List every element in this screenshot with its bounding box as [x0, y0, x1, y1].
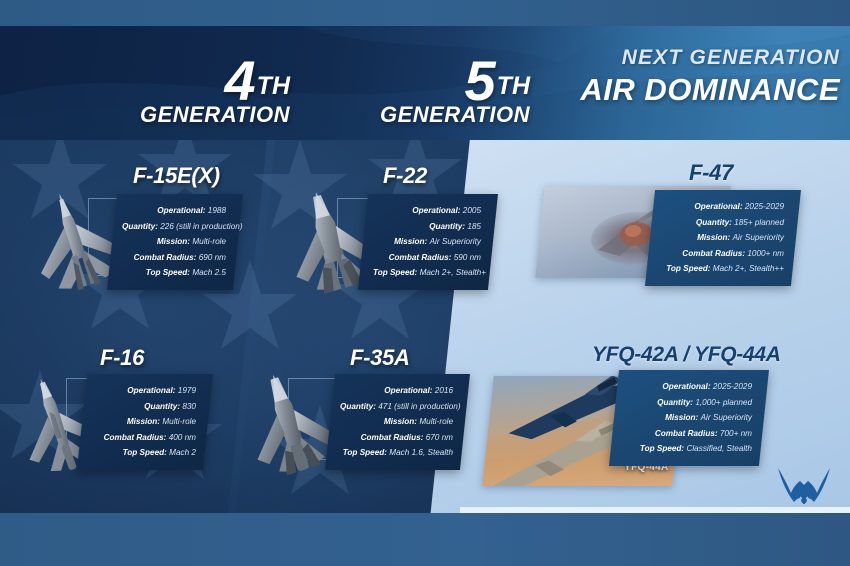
spec-label-mission: Mission: [127, 417, 160, 426]
spec-row-quantity: Quantity: 471 (still in production) [340, 399, 453, 415]
header-4th-generation: 4TH GENERATION [60, 56, 290, 128]
spec-label-quantity: Quantity: [696, 218, 732, 227]
spec-row-combat-radius: Combat Radius: 590 nm [373, 250, 481, 266]
gen5-ordinal: TH [497, 72, 530, 100]
spec-value-mission: Air Superiority [701, 413, 752, 422]
spec-row-combat-radius: Combat Radius: 670 nm [340, 430, 453, 446]
spec-value-top-speed: Classified, Stealth [686, 444, 752, 453]
spec-value-operational: 2025-2029 [745, 202, 784, 211]
spec-row-quantity: Quantity: 185+ planned [660, 215, 784, 231]
spec-value-combat-radius: 700+ nm [720, 429, 752, 438]
spec-label-combat-radius: Combat Radius: [134, 253, 197, 262]
spec-label-operational: Operational: [412, 206, 460, 215]
spec-value-combat-radius: 670 nm [426, 433, 453, 442]
spec-value-top-speed: Mach 2 [169, 448, 196, 457]
spec-label-top-speed: Top Speed: [666, 264, 710, 273]
spec-label-combat-radius: Combat Radius: [389, 253, 452, 262]
spec-label-quantity: Quantity: [122, 222, 158, 231]
spec-card-yfq: Operational: 2025-2029 Quantity: 1,000+ … [609, 370, 769, 466]
spec-row-operational: Operational: 1988 [122, 203, 226, 219]
spec-row-quantity: Quantity: 185 [373, 219, 481, 235]
spec-value-mission: Air Superiority [733, 233, 784, 242]
spec-value-top-speed: Mach 2+, Stealth++ [713, 264, 784, 273]
spec-value-operational: 2016 [435, 386, 453, 395]
aircraft-photo-f35a [240, 366, 340, 488]
spec-card-f15ex: Operational: 1988 Quantity: 226 (still i… [107, 194, 243, 290]
gen4-label: GENERATION [60, 102, 290, 128]
aircraft-name-f22: F-22 [383, 163, 427, 189]
spec-row-operational: Operational: 1979 [92, 383, 196, 399]
spec-label-quantity: Quantity: [144, 402, 180, 411]
spec-label-operational: Operational: [127, 386, 175, 395]
bottom-accent-strip [0, 513, 850, 566]
spec-row-top-speed: Top Speed: Mach 2.5 [122, 265, 226, 281]
spec-row-combat-radius: Combat Radius: 400 nm [92, 430, 196, 446]
spec-row-mission: Mission: Multi-role [122, 234, 226, 250]
spec-row-operational: Operational: 2025-2029 [660, 199, 784, 215]
aircraft-name-yfq: YFQ-42A / YFQ-44A [592, 343, 781, 367]
spec-label-top-speed: Top Speed: [640, 444, 684, 453]
spec-label-operational: Operational: [157, 206, 205, 215]
spec-label-combat-radius: Combat Radius: [104, 433, 167, 442]
spec-row-combat-radius: Combat Radius: 700+ nm [624, 426, 752, 442]
spec-value-operational: 2025-2029 [713, 382, 752, 391]
header-next-generation: NEXT GENERATION AIR DOMINANCE [560, 46, 840, 108]
spec-row-quantity: Quantity: 1,000+ planned [624, 395, 752, 411]
spec-label-top-speed: Top Speed: [123, 448, 167, 457]
gen5-label: GENERATION [300, 102, 530, 128]
spec-label-top-speed: Top Speed: [373, 268, 417, 277]
spec-row-mission: Mission: Air Superiority [373, 234, 481, 250]
spec-value-top-speed: Mach 1.6, Stealth [389, 448, 453, 457]
ngad-line1: NEXT GENERATION [560, 46, 840, 70]
spec-row-operational: Operational: 2025-2029 [624, 379, 752, 395]
spec-label-operational: Operational: [662, 382, 710, 391]
spec-label-mission: Mission: [665, 413, 698, 422]
spec-row-top-speed: Top Speed: Mach 1.6, Stealth [340, 445, 453, 461]
spec-value-operational: 1979 [178, 386, 196, 395]
spec-label-mission: Mission: [157, 237, 190, 246]
spec-row-mission: Mission: Air Superiority [624, 410, 752, 426]
usaf-wings-icon [774, 466, 834, 508]
spec-row-top-speed: Top Speed: Mach 2+, Stealth++ [660, 261, 784, 277]
ngad-panel-content: F-47 Operational: 2025-2029 [474, 138, 850, 518]
spec-label-mission: Mission: [384, 417, 417, 426]
spec-card-f16: Operational: 1979 Quantity: 830 Mission:… [77, 374, 213, 470]
spec-value-top-speed: Mach 2.5 [192, 268, 226, 277]
spec-row-mission: Mission: Multi-role [340, 414, 453, 430]
header-band: 4TH GENERATION 5TH GENERATION NEXT GENER… [0, 26, 850, 140]
spec-value-operational: 1988 [208, 206, 226, 215]
spec-label-top-speed: Top Speed: [146, 268, 190, 277]
spec-row-combat-radius: Combat Radius: 1000+ nm [660, 246, 784, 262]
spec-value-quantity: 1,000+ planned [695, 398, 752, 407]
gen4-ordinal: TH [257, 72, 290, 100]
spec-label-combat-radius: Combat Radius: [361, 433, 424, 442]
spec-value-combat-radius: 1000+ nm [747, 249, 784, 258]
spec-label-quantity: Quantity: [657, 398, 693, 407]
spec-value-mission: Multi-role [419, 417, 453, 426]
spec-label-mission: Mission: [697, 233, 730, 242]
aircraft-name-f47: F-47 [689, 160, 733, 186]
spec-row-mission: Mission: Multi-role [92, 414, 196, 430]
spec-value-mission: Multi-role [162, 417, 196, 426]
spec-row-top-speed: Top Speed: Mach 2 [92, 445, 196, 461]
spec-card-f47: Operational: 2025-2029 Quantity: 185+ pl… [645, 190, 801, 286]
ngad-line2: AIR DOMINANCE [560, 72, 840, 108]
top-accent-strip [0, 0, 850, 26]
spec-label-operational: Operational: [694, 202, 742, 211]
spec-row-operational: Operational: 2005 [373, 203, 481, 219]
spec-value-combat-radius: 400 nm [169, 433, 196, 442]
spec-value-quantity: 830 [182, 402, 196, 411]
spec-label-mission: Mission: [394, 237, 427, 246]
spec-row-mission: Mission: Air Superiority [660, 230, 784, 246]
spec-value-quantity: 185+ planned [734, 218, 784, 227]
spec-row-operational: Operational: 2016 [340, 383, 453, 399]
aircraft-name-f15ex: F-15E(X) [133, 163, 220, 189]
spec-value-quantity: 226 (still in production) [160, 222, 242, 231]
spec-label-top-speed: Top Speed: [343, 448, 387, 457]
spec-label-operational: Operational: [384, 386, 432, 395]
spec-value-combat-radius: 690 nm [199, 253, 226, 262]
aircraft-name-f35a: F-35A [350, 345, 410, 371]
spec-row-top-speed: Top Speed: Classified, Stealth [624, 441, 752, 457]
spec-card-f35a: Operational: 2016 Quantity: 471 (still i… [325, 374, 470, 470]
spec-row-quantity: Quantity: 830 [92, 399, 196, 415]
spec-label-quantity: Quantity: [340, 402, 376, 411]
spec-label-quantity: Quantity: [429, 222, 465, 231]
spec-value-mission: Multi-role [192, 237, 226, 246]
spec-label-combat-radius: Combat Radius: [655, 429, 718, 438]
spec-value-quantity: 471 (still in production) [378, 402, 460, 411]
spec-label-combat-radius: Combat Radius: [682, 249, 745, 258]
infographic-root: 4TH GENERATION 5TH GENERATION NEXT GENER… [0, 0, 850, 566]
spec-row-top-speed: Top Speed: Mach 2+, Stealth+ [373, 265, 481, 281]
header-5th-generation: 5TH GENERATION [300, 56, 530, 128]
spec-row-quantity: Quantity: 226 (still in production) [122, 219, 226, 235]
spec-row-combat-radius: Combat Radius: 690 nm [122, 250, 226, 266]
